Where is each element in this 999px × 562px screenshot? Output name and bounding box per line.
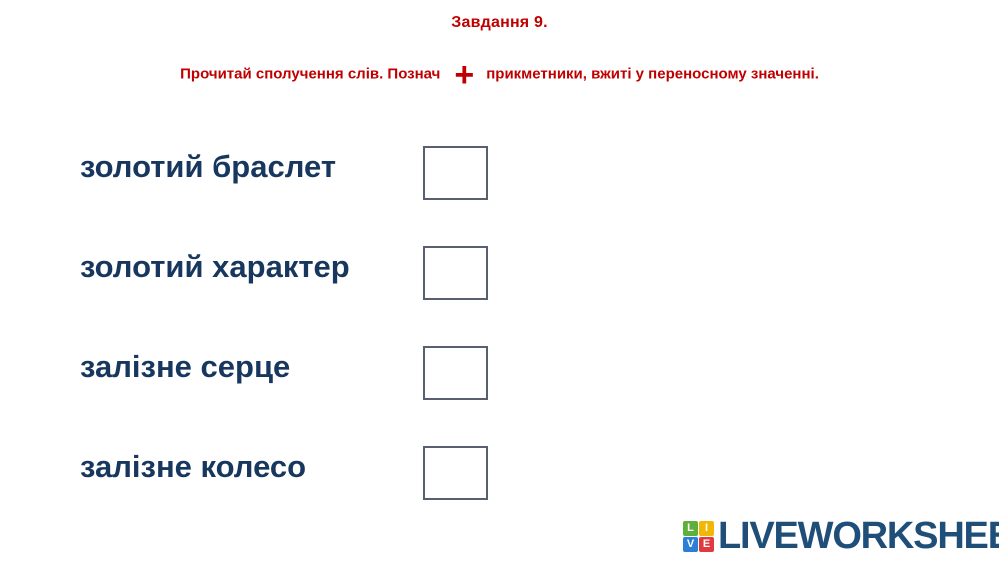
liveworksheets-logo-icon: L I V E xyxy=(683,521,714,552)
list-item: золотий браслет xyxy=(0,132,999,232)
phrase-label: залізне серце xyxy=(80,332,290,402)
phrase-label: золотий браслет xyxy=(80,132,336,202)
answer-box[interactable] xyxy=(423,246,488,300)
instruction-text: Прочитай сполучення слів. Познач+прикмет… xyxy=(0,62,999,86)
logo-square-l: L xyxy=(683,521,698,536)
page-title: Завдання 9. xyxy=(0,14,999,32)
instruction-text-after: прикметники, вжиті у переносному значенн… xyxy=(486,65,819,82)
phrase-label: золотий характер xyxy=(80,232,350,302)
liveworksheets-wordmark: LIVEWORKSHEETS xyxy=(718,517,999,555)
logo-square-i: I xyxy=(699,521,714,536)
answer-box[interactable] xyxy=(423,446,488,500)
phrase-label: залізне колесо xyxy=(80,432,306,502)
phrase-list: золотий браслет золотий характер залізне… xyxy=(0,132,999,532)
logo-square-e: E xyxy=(699,537,714,552)
instruction-text-before: Прочитай сполучення слів. Познач xyxy=(180,65,440,82)
list-item: залізне серце xyxy=(0,332,999,432)
answer-box[interactable] xyxy=(423,146,488,200)
list-item: золотий характер xyxy=(0,232,999,332)
logo-square-v: V xyxy=(683,537,698,552)
plus-icon: + xyxy=(454,64,474,88)
answer-box[interactable] xyxy=(423,346,488,400)
liveworksheets-logo: L I V E LIVEWORKSHEETS xyxy=(683,514,999,558)
